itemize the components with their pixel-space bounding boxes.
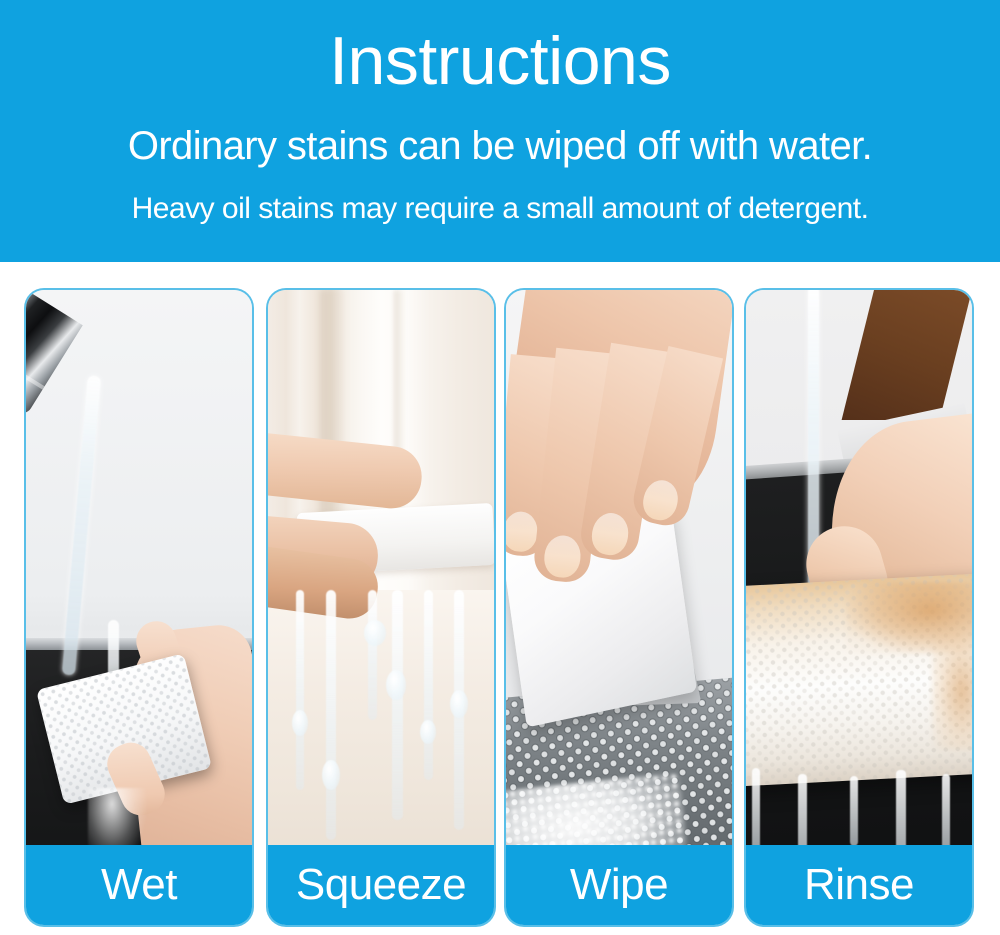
water-drip-4 bbox=[392, 590, 403, 820]
water-drip-3 bbox=[850, 776, 858, 846]
water-drip-5 bbox=[424, 590, 433, 780]
faucet-band bbox=[26, 347, 45, 390]
header-subtitle-secondary: Heavy oil stains may require a small amo… bbox=[0, 190, 1000, 228]
step-photo-squeeze bbox=[268, 290, 494, 873]
fingernail-1 bbox=[506, 510, 539, 553]
water-bead-2 bbox=[322, 760, 340, 790]
step-label-rinse: Rinse bbox=[804, 861, 914, 909]
step-label-band-wet[interactable]: Wet bbox=[26, 845, 252, 925]
step-label-squeeze: Squeeze bbox=[296, 861, 466, 909]
step-label-band-squeeze[interactable]: Squeeze bbox=[268, 845, 494, 925]
water-drip-1 bbox=[752, 768, 760, 854]
instructions-header-banner: Instructions Ordinary stains can be wipe… bbox=[0, 0, 1000, 262]
step-photo-wet bbox=[26, 290, 252, 873]
step-label-band-wipe[interactable]: Wipe bbox=[506, 845, 732, 925]
fingernail-4 bbox=[640, 477, 682, 524]
fingernail-2 bbox=[542, 534, 582, 580]
steps-gallery: Wet Squeeze bbox=[0, 262, 1000, 935]
sponge-stain-secondary bbox=[932, 630, 972, 750]
water-drip-1 bbox=[296, 590, 304, 790]
step-photo-rinse bbox=[746, 290, 972, 873]
step-card-squeeze[interactable]: Squeeze bbox=[268, 290, 494, 925]
step-label-wipe: Wipe bbox=[570, 861, 668, 909]
step-label-band-rinse[interactable]: Rinse bbox=[746, 845, 972, 925]
water-drip-5 bbox=[942, 774, 950, 854]
header-subtitle-primary: Ordinary stains can be wiped off with wa… bbox=[0, 122, 1000, 170]
water-drip-3 bbox=[368, 590, 377, 720]
step-card-wipe[interactable]: Wipe bbox=[506, 290, 732, 925]
water-bead-4 bbox=[420, 720, 436, 744]
water-bead-1 bbox=[292, 710, 308, 736]
water-bead-6 bbox=[364, 620, 386, 646]
water-drip-2 bbox=[326, 590, 336, 840]
step-card-wet[interactable]: Wet bbox=[26, 290, 252, 925]
water-bead-3 bbox=[386, 670, 406, 700]
step-label-wet: Wet bbox=[101, 861, 177, 909]
step-card-rinse[interactable]: Rinse bbox=[746, 290, 972, 925]
fingernail-3 bbox=[589, 510, 631, 557]
water-bead-5 bbox=[450, 690, 468, 718]
page-title: Instructions bbox=[0, 24, 1000, 98]
step-photo-wipe bbox=[506, 290, 732, 873]
